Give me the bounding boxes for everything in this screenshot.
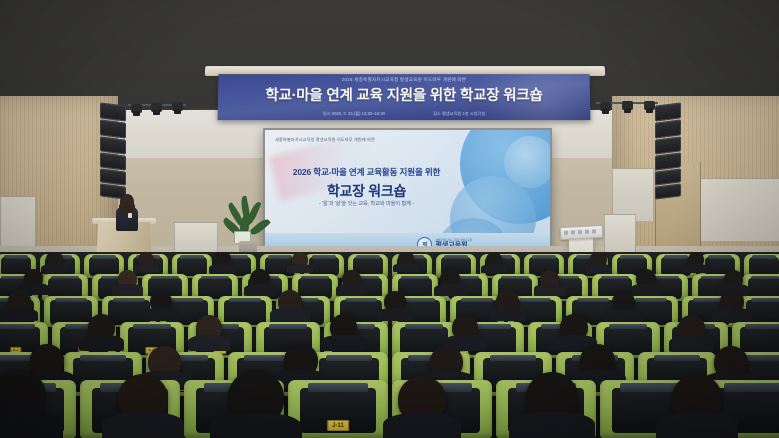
stage-side-panel-right [604, 214, 636, 256]
audience-seating: K-7 K-9 K-11 K-13 [0, 252, 779, 438]
audience-head [430, 346, 463, 377]
slide-line-3: - '앎'과 '삶'을 잇는 교육, 학교와 마을이 함께 - [271, 200, 462, 207]
audience-head [250, 269, 270, 288]
banner-subtitle: 2026 세종특별자치시교육청 평생교육원 이도마루 개원에 따른 [218, 77, 589, 83]
presenter-name-badge [128, 213, 132, 218]
speaker-cabinet [100, 102, 126, 121]
audience-head [46, 252, 63, 267]
audience-head [384, 291, 406, 312]
audience-head [292, 252, 308, 267]
audience-head [496, 290, 519, 312]
line-array-speaker-right [655, 104, 681, 198]
speaker-cabinet [100, 136, 126, 154]
seat-number-tag: J-11 [327, 420, 349, 431]
audience-head-foreground [118, 374, 168, 422]
audience-head [30, 344, 64, 376]
audience-head [214, 252, 231, 267]
spotlight-icon [172, 102, 183, 111]
audience-head-foreground [526, 372, 578, 422]
audience-head [540, 270, 559, 288]
audience-head [284, 344, 318, 376]
presenter [115, 196, 139, 230]
audience-head [714, 346, 748, 378]
speaker-cabinet [655, 119, 681, 138]
wall-panel-right [700, 178, 779, 242]
audience-head [148, 346, 181, 377]
projection-screen: 세종특별자치시교육청 평생교육원 이도마루 개원에 따른 2026 학교-마을 … [265, 130, 550, 254]
banner-place-value: 평생교육원 1층 시청각실 [442, 111, 485, 116]
speaker-cabinet [100, 119, 126, 138]
audience-head [440, 269, 460, 288]
audience-head [8, 290, 31, 312]
banner-date-value: 2026. 2. 23.(월) 13:30~16:30 [332, 111, 385, 116]
banner-place-label: 장소 [433, 111, 441, 116]
audience-head [724, 270, 743, 288]
audience-head [398, 252, 414, 266]
audience-head [590, 252, 607, 267]
audience-head [678, 315, 705, 341]
audience-head [452, 315, 478, 340]
spotlight-icon [600, 102, 611, 111]
audience-head [278, 290, 302, 313]
speaker-cabinet [655, 102, 681, 121]
spotlight-icon [644, 101, 655, 110]
audience-head-foreground [228, 370, 284, 424]
audience-head [688, 252, 704, 267]
audience-head [24, 269, 43, 287]
audience-head [612, 291, 635, 313]
spotlight-icon [131, 104, 142, 113]
slide-top-line: 세종특별자치시교육청 평생교육원 이도마루 개원에 따른 [275, 137, 480, 143]
audience-head [580, 344, 615, 377]
banner-footer: 일시 2026. 2. 23.(월) 13:30~16:30 장소 평생교육원 … [218, 111, 591, 117]
line-array-speaker-left [100, 104, 126, 198]
spotlight-icon [151, 103, 162, 112]
spotlight-icon [622, 101, 633, 110]
speaker-cabinet [655, 183, 681, 199]
audience-head [196, 315, 222, 340]
audience-head-foreground [672, 374, 722, 422]
auditorium-photo: 2026 세종특별자치시교육청 평생교육원 이도마루 개원에 따른 학교·마을 … [0, 0, 779, 438]
seat[interactable]: J-11 [288, 380, 388, 438]
slide-line-1: 2026 학교-마을 연계 교육활동 지원을 위한 [271, 166, 462, 178]
audience-head [138, 252, 154, 267]
audience-head [118, 270, 137, 288]
side-podium-sign [560, 225, 604, 240]
stage-side-panel-left [174, 222, 218, 254]
banner-title: 학교·마을 연계 교육 지원을 위한 학교장 워크숍 [218, 84, 590, 105]
audience-head [560, 314, 588, 340]
projection-screen-frame: 세종특별자치시교육청 평생교육원 이도마루 개원에 따른 2026 학교-마을 … [263, 128, 552, 256]
slide-line-2: 학교장 워크숍 [271, 181, 462, 201]
potted-plant [228, 196, 268, 258]
audience-head [150, 291, 172, 312]
audience-head [330, 314, 357, 340]
banner-date: 일시 2026. 2. 23.(월) 13:30~16:30 [323, 111, 385, 117]
audience-head [636, 269, 656, 288]
banner-date-label: 일시 [323, 111, 331, 116]
audience-head [342, 270, 361, 288]
audience-head-foreground [398, 376, 446, 422]
banner-place: 장소 평생교육원 1층 시청각실 [433, 111, 485, 117]
event-banner: 2026 세종특별자치시교육청 평생교육원 이도마루 개원에 따른 학교·마을 … [218, 74, 591, 120]
audience-head [486, 252, 502, 267]
presenter-hair [120, 194, 134, 210]
audience-head [720, 290, 744, 313]
audience-head [88, 314, 115, 340]
audience-head-foreground [0, 370, 46, 420]
speaker-cabinet [100, 152, 126, 170]
